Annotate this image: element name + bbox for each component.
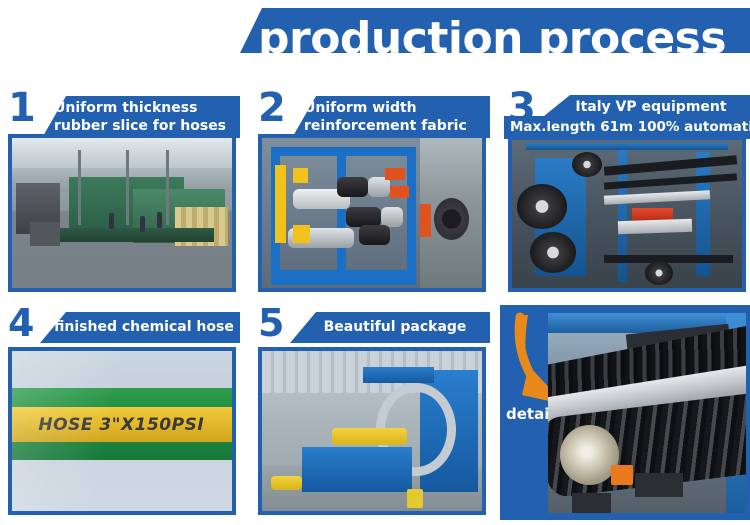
panel-1-caption-line-1: Uniform thickness	[54, 99, 232, 117]
photo2-roller-black-2	[346, 207, 381, 227]
panel-5: 5 Beautiful package	[250, 307, 490, 519]
detail-panel: detail	[500, 305, 750, 520]
panel-2-caption: Uniform width reinforcement fabric	[292, 96, 490, 138]
photo2-roller-silver-2	[381, 207, 403, 227]
photo2-yellow-guard-2	[293, 168, 308, 183]
photo2-winder-wheel	[434, 198, 469, 240]
panel-2-number: 2	[258, 88, 286, 128]
detail-photo-base	[572, 493, 612, 513]
panel-3-photo-frame	[508, 136, 746, 292]
photo5-machine-top-arm	[363, 367, 433, 383]
photo2-yellow-guard-3	[293, 225, 311, 243]
photo3-roller-bottom	[645, 261, 673, 285]
panel-1-photo-frame	[8, 134, 236, 292]
photo5-yellow-coil	[332, 428, 407, 446]
photo1-worker-c	[157, 212, 162, 228]
photo2-machine-base	[271, 272, 416, 286]
photo2-roller-black-1	[337, 177, 368, 197]
photo3-drum-1	[517, 184, 568, 228]
photo5-yellow-bundle	[271, 476, 302, 490]
photo3-top-rail	[526, 143, 728, 150]
detail-photo-dark-bracket	[635, 473, 683, 497]
panel-4-caption: finished chemical hose	[40, 312, 240, 343]
panel-3-caption-line-2: Max.length 61m 100% automatic	[510, 118, 746, 136]
panel-2-caption-line-1: Uniform width	[304, 99, 482, 117]
photo5-yellow-drum	[407, 489, 422, 508]
page-header: production process	[0, 8, 750, 88]
photo1-post-c	[166, 150, 169, 225]
photo1-cart	[30, 222, 61, 246]
panel-5-photo	[262, 351, 482, 511]
panel-1-number: 1	[8, 88, 36, 128]
panel-3-caption-line-1: Italy VP equipment	[558, 98, 744, 116]
panel-3: 3 Italy VP equipment Max.length 61m 100%…	[500, 92, 750, 297]
photo1-roof	[12, 138, 232, 171]
detail-photo	[548, 313, 746, 513]
photo1-post-a	[78, 150, 81, 225]
photo2-orange-clamp-1	[385, 168, 405, 180]
photo2-roller-black-3	[359, 225, 390, 245]
photo3-bottom-rail	[604, 255, 733, 262]
panel-2-photo-frame	[258, 134, 486, 292]
photo1-post-b	[126, 150, 129, 225]
panel-5-caption: Beautiful package	[290, 312, 490, 343]
photo3-steel-plate	[618, 219, 692, 235]
panel-3-photo	[512, 140, 742, 288]
photo2-orange-comb	[420, 204, 431, 237]
panel-5-number: 5	[258, 303, 284, 343]
panel-1-photo	[12, 138, 232, 288]
photo1-worker-a	[109, 213, 114, 229]
production-process-infographic: production process 1 Uniform thickness r…	[0, 0, 750, 525]
panel-1: 1 Uniform thickness rubber slice for hos…	[0, 92, 240, 297]
photo4-light-sheen	[12, 351, 232, 511]
panel-4-photo: HOSE 3"X150PSI	[12, 351, 232, 511]
photo1-conveyor-belt	[60, 228, 214, 242]
photo2-orange-clamp-2	[390, 186, 410, 198]
photo3-drum-3	[572, 152, 602, 177]
panel-5-caption-line-1: Beautiful package	[310, 318, 480, 336]
photo5-console	[302, 447, 412, 492]
photo2-yellow-guard-1	[275, 165, 286, 243]
photo1-worker-b	[140, 216, 145, 232]
photo2-vertical-bar	[337, 147, 346, 279]
panel-2: 2 Uniform width reinforcement fabric	[250, 92, 490, 297]
panel-4-caption-line-1: finished chemical hose	[54, 318, 230, 336]
panel-4-photo-frame: HOSE 3"X150PSI	[8, 347, 236, 515]
panel-3-caption-line-2-wrap: Max.length 61m 100% automatic	[504, 116, 750, 139]
detail-photo-metal-disc	[560, 425, 619, 485]
panel-1-caption: Uniform thickness rubber slice for hoses	[42, 96, 240, 138]
detail-photo-orange-clip	[611, 465, 633, 485]
panel-5-photo-frame	[258, 347, 486, 515]
panel-3-caption-line-1-wrap: Italy VP equipment	[544, 95, 750, 116]
panel-2-caption-line-2: reinforcement fabric	[304, 117, 482, 135]
panel-2-photo	[262, 138, 482, 288]
panel-1-caption-line-2: rubber slice for hoses	[54, 117, 232, 135]
panel-4-number: 4	[8, 303, 34, 343]
panel-4: 4 finished chemical hose HOSE 3"X150PSI	[0, 307, 240, 519]
page-title: production process	[258, 12, 750, 82]
